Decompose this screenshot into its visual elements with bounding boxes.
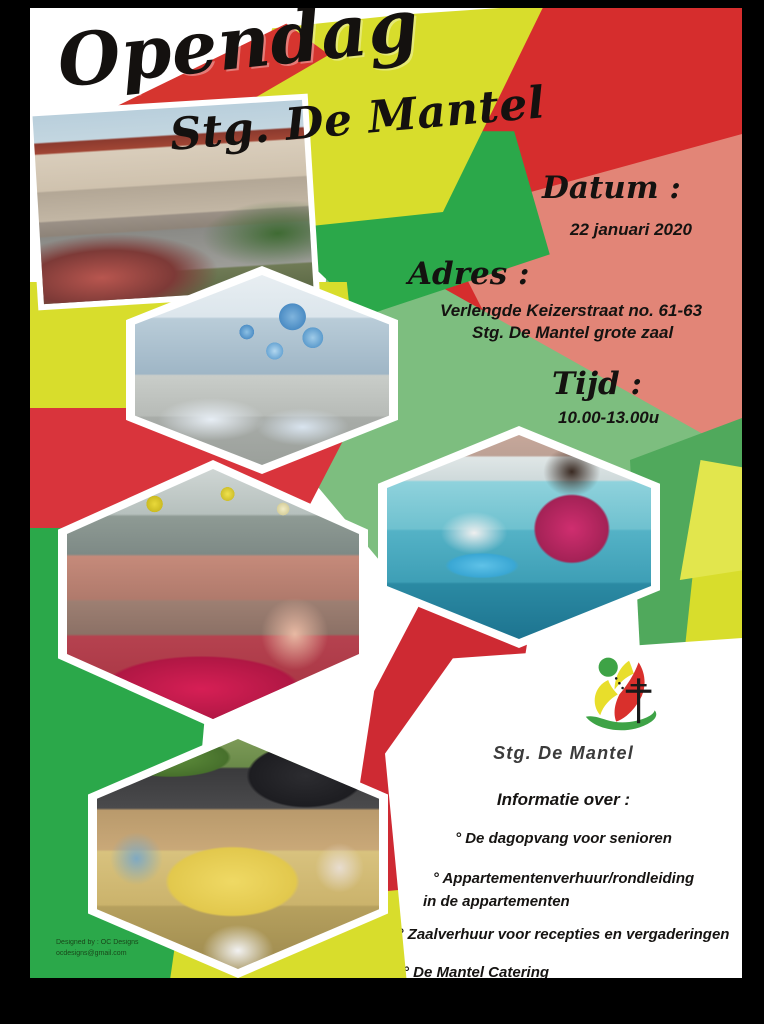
date-value: 22 januari 2020 [570, 220, 692, 240]
info-item-zaalverhuur: ° Zaalverhuur voor recepties en vergader… [385, 926, 742, 943]
address-label: Adres : [408, 256, 529, 292]
logo-yellow-flame-icon [595, 680, 618, 715]
designer-credit: Designed by : OC Designs ocdesigns@gmail… [56, 938, 138, 959]
info-item-appartementen-cont: in de appartementen [423, 893, 570, 910]
photo-pool-therapy [378, 426, 660, 648]
date-label: Datum : [542, 170, 681, 206]
credit-line-2: ocdesigns@gmail.com [56, 949, 138, 960]
logo-head-icon [599, 658, 618, 677]
info-item-dagopvang: ° De dagopvang voor senioren [385, 830, 742, 847]
address-line-1: Verlengde Keizerstraat no. 61-63 [440, 301, 702, 321]
poster-root: Opendag Stg. De Mantel Datum : 22 januar… [0, 0, 764, 1024]
info-item-appartementen: ° Appartementenverhuur/rondleiding [385, 870, 742, 887]
info-heading: Informatie over : [385, 790, 742, 810]
photo-pool-therapy-image [387, 435, 651, 639]
credit-line-1: Designed by : OC Designs [56, 938, 138, 949]
stg-de-mantel-logo [573, 648, 669, 744]
poster-canvas: Opendag Stg. De Mantel Datum : 22 januar… [30, 8, 742, 978]
time-label: Tijd : [552, 366, 642, 402]
photo-seniors-party [58, 460, 368, 728]
address-line-2: Stg. De Mantel grote zaal [472, 323, 673, 343]
info-item-catering: ° De Mantel Catering [403, 964, 549, 978]
time-value: 10.00-13.00u [558, 408, 659, 428]
photo-seniors-party-image [67, 469, 359, 719]
info-panel: Stg. De Mantel Informatie over : ° De da… [385, 638, 742, 978]
logo-caption: Stg. De Mantel [385, 743, 742, 764]
photo-decorated-hall-image [135, 275, 389, 465]
photo-seniors-cards-image [97, 739, 379, 969]
